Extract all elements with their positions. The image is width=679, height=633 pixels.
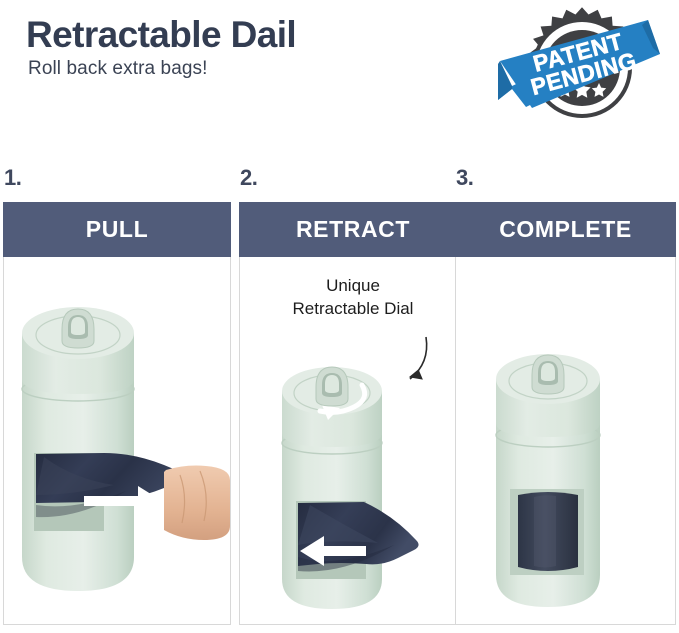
step-number: 2. [240,165,257,191]
step-body-complete [455,257,676,625]
patent-pending-badge: PATENT PENDING [496,4,668,132]
step-header-complete: COMPLETE [455,202,676,257]
page-subtitle: Roll back extra bags! [28,58,208,80]
page-title: Retractable Dail [26,14,296,56]
hand-grip [164,466,230,541]
header-area: Retractable Dail Roll back extra bags! [0,0,679,150]
product-illustration-pull [4,257,230,624]
step-header-pull: PULL [3,202,231,257]
step-number: 1. [4,165,21,191]
step-body-pull [3,257,231,625]
step-header-label: COMPLETE [499,216,632,243]
step-panel-complete: 3. COMPLETE [455,165,676,627]
step-body-retract: Unique Retractable Dial [239,257,467,625]
steps-row: 1. PULL [0,165,679,630]
product-illustration-complete [456,257,675,624]
step-header-retract: RETRACT [239,202,467,257]
step-panel-retract: 2. RETRACT Unique Retractable Dial [239,165,467,627]
retractable-dial [316,367,348,406]
product-illustration-retract [240,257,466,624]
bag-window [510,489,584,575]
step-header-label: RETRACT [296,216,410,243]
retractable-dial [62,309,94,348]
step-header-label: PULL [86,216,148,243]
step-panel-pull: 1. PULL [3,165,231,627]
retractable-dial [532,355,564,394]
step-number: 3. [456,165,473,191]
